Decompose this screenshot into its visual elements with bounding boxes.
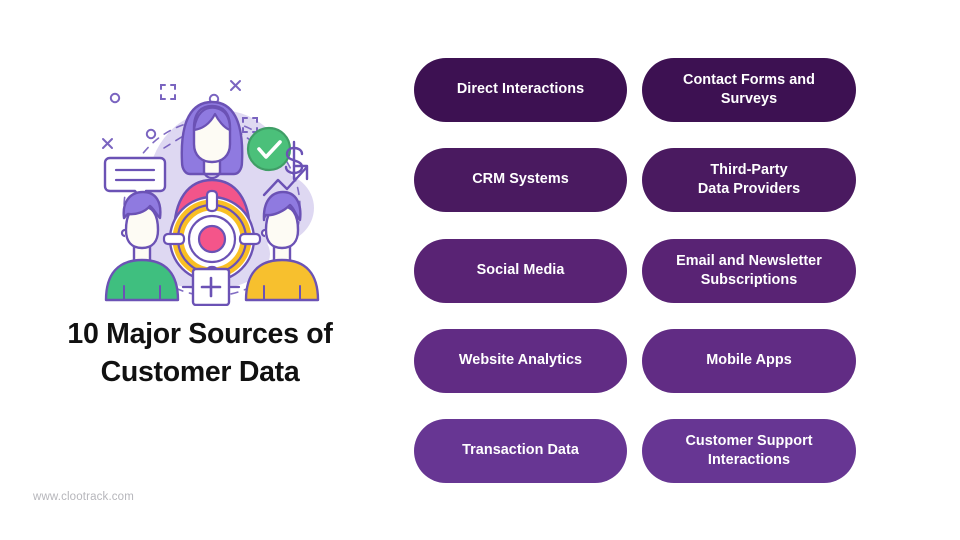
source-pill-direct-interactions[interactable]: Direct Interactions [414, 58, 627, 122]
customer-data-sources-list: Direct Interactions Contact Forms andSur… [414, 58, 856, 483]
source-pill-transaction-data[interactable]: Transaction Data [414, 419, 627, 483]
source-pill-contact-forms-and-surveys[interactable]: Contact Forms andSurveys [642, 58, 856, 122]
sources-row: Transaction Data Customer SupportInterac… [414, 419, 856, 483]
source-pill-crm-systems[interactable]: CRM Systems [414, 148, 627, 212]
page-title-line-1: 10 Major Sources of [0, 316, 400, 354]
source-pill-customer-support-interactions[interactable]: Customer SupportInteractions [642, 419, 856, 483]
footer-website-url[interactable]: www.clootrack.com [33, 491, 134, 503]
slide-root: 10 Major Sources of Customer Data www.cl… [0, 0, 960, 540]
page-title: 10 Major Sources of Customer Data [0, 316, 400, 392]
customer-data-people-target-illustration [88, 58, 336, 306]
check-circle-icon [248, 128, 290, 170]
source-pill-email-and-newsletter-subscriptions[interactable]: Email and NewsletterSubscriptions [642, 239, 856, 303]
sources-row: Direct Interactions Contact Forms andSur… [414, 58, 856, 122]
sources-row: Social Media Email and NewsletterSubscri… [414, 239, 856, 303]
source-pill-website-analytics[interactable]: Website Analytics [414, 329, 627, 393]
source-pill-social-media[interactable]: Social Media [414, 239, 627, 303]
left-panel: 10 Major Sources of Customer Data www.cl… [0, 0, 400, 540]
page-title-line-2: Customer Data [0, 354, 400, 392]
source-pill-third-party-data-providers[interactable]: Third-PartyData Providers [642, 148, 856, 212]
sources-row: Website Analytics Mobile Apps [414, 329, 856, 393]
source-pill-mobile-apps[interactable]: Mobile Apps [642, 329, 856, 393]
sources-row: CRM Systems Third-PartyData Providers [414, 148, 856, 212]
